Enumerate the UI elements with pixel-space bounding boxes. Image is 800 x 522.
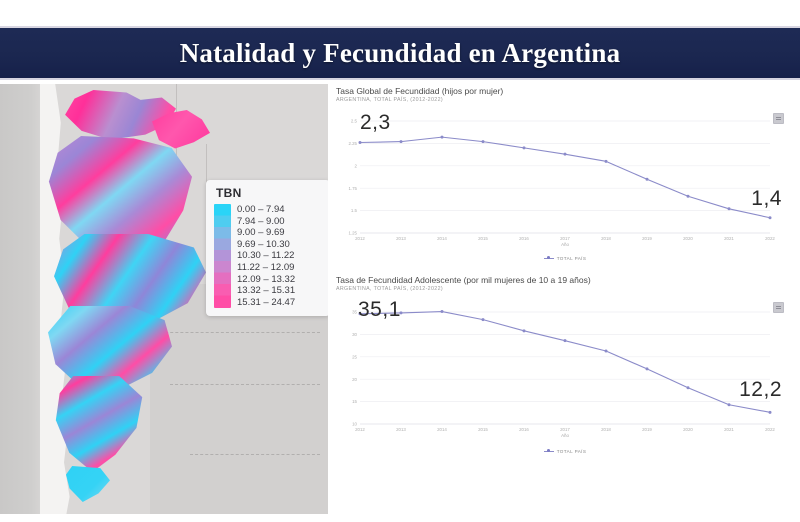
svg-text:1.75: 1.75	[348, 186, 357, 191]
legend-body: 0.00 – 7.94 7.94 – 9.00 9.00 – 9.69 9.69…	[214, 204, 322, 308]
chart-1-plot[interactable]: 1.251.51.7522.252.5201220132014201520162…	[330, 107, 800, 255]
svg-text:Año: Año	[561, 242, 569, 247]
svg-text:2014: 2014	[437, 236, 447, 241]
legend-color-ramp	[214, 204, 231, 308]
menu-icon[interactable]	[773, 302, 784, 313]
legend-class-1: 0.00 – 7.94	[237, 204, 295, 216]
legend-class-7: 12.09 – 13.32	[237, 274, 295, 286]
svg-text:2013: 2013	[396, 236, 406, 241]
map-dashed-boundary-2	[170, 384, 320, 385]
svg-text:2.5: 2.5	[351, 119, 358, 124]
chart-1-subtitle: ARGENTINA, TOTAL PAÍS, (2012-2022)	[330, 97, 800, 103]
chart-2-plot[interactable]: 1015202530352012201320142015201620172018…	[330, 296, 800, 448]
svg-text:2019: 2019	[642, 427, 652, 432]
chart-2-legend[interactable]: TOTAL PAÍS	[330, 449, 800, 454]
svg-text:30: 30	[352, 332, 357, 337]
svg-text:2016: 2016	[519, 236, 529, 241]
map-atlantic-ocean	[150, 284, 328, 514]
svg-text:25: 25	[352, 354, 357, 359]
map-dashed-boundary-3	[190, 454, 320, 455]
svg-text:2017: 2017	[560, 236, 570, 241]
chart-1-end-value: 1,4	[751, 187, 782, 211]
chart-block-fecundidad-global: Tasa Global de Fecundidad (hijos por muj…	[330, 80, 800, 261]
svg-text:2022: 2022	[765, 236, 775, 241]
chart-2-subtitle: ARGENTINA, TOTAL PAÍS, (2012-2022)	[330, 286, 800, 292]
svg-text:2015: 2015	[478, 236, 488, 241]
map-dashed-boundary-1	[150, 332, 320, 333]
legend-class-6: 11.22 – 12.09	[237, 262, 295, 274]
chart-block-fecundidad-adolescente: Tasa de Fecundidad Adolescente (por mil …	[330, 261, 800, 454]
svg-text:2021: 2021	[724, 427, 734, 432]
svg-text:20: 20	[352, 377, 357, 382]
page-title: Natalidad y Fecundidad en Argentina	[180, 38, 621, 69]
chart-1-title: Tasa Global de Fecundidad (hijos por muj…	[330, 86, 800, 97]
svg-text:2: 2	[355, 163, 358, 168]
legend-class-3: 9.00 – 9.69	[237, 227, 295, 239]
svg-text:2019: 2019	[642, 236, 652, 241]
svg-text:1.5: 1.5	[351, 208, 358, 213]
svg-text:2021: 2021	[724, 236, 734, 241]
legend-labels: 0.00 – 7.94 7.94 – 9.00 9.00 – 9.69 9.69…	[237, 204, 295, 308]
svg-text:2018: 2018	[601, 427, 611, 432]
chart-2-start-value: 35,1	[358, 298, 401, 322]
chart-2-end-value: 12,2	[739, 378, 782, 402]
legend-class-4: 9.69 – 10.30	[237, 239, 295, 251]
svg-text:2012: 2012	[355, 236, 365, 241]
svg-text:2020: 2020	[683, 427, 693, 432]
svg-text:2016: 2016	[519, 427, 529, 432]
svg-text:2013: 2013	[396, 427, 406, 432]
svg-text:2015: 2015	[478, 427, 488, 432]
svg-text:2012: 2012	[355, 427, 365, 432]
map-legend: TBN 0.00 – 7.94 7.94 – 9.00 9.00 – 9.69 …	[206, 180, 328, 316]
svg-text:Año: Año	[561, 433, 569, 438]
slide-content: TBN 0.00 – 7.94 7.94 – 9.00 9.00 – 9.69 …	[0, 80, 800, 522]
charts-column: Tasa Global de Fecundidad (hijos por muj…	[330, 80, 800, 522]
svg-text:2022: 2022	[765, 427, 775, 432]
chart-1-legend-swatch	[544, 258, 554, 260]
chart-1-start-value: 2,3	[360, 111, 391, 135]
legend-class-9: 15.31 – 24.47	[237, 297, 295, 309]
header-band: Natalidad y Fecundidad en Argentina	[0, 28, 800, 78]
slide: Natalidad y Fecundidad en Argentina	[0, 0, 800, 522]
legend-class-8: 13.32 – 15.31	[237, 285, 295, 297]
legend-class-5: 10.30 – 11.22	[237, 250, 295, 262]
svg-text:10: 10	[352, 422, 357, 427]
svg-text:15: 15	[352, 399, 357, 404]
svg-text:2014: 2014	[437, 427, 447, 432]
legend-class-2: 7.94 – 9.00	[237, 216, 295, 228]
map-panel[interactable]: TBN 0.00 – 7.94 7.94 – 9.00 9.00 – 9.69 …	[0, 84, 328, 514]
chart-2-title: Tasa de Fecundidad Adolescente (por mil …	[330, 275, 800, 286]
svg-text:2018: 2018	[601, 236, 611, 241]
svg-text:35: 35	[352, 310, 357, 315]
menu-icon[interactable]	[773, 113, 784, 124]
legend-title: TBN	[216, 186, 322, 200]
svg-text:2017: 2017	[560, 427, 570, 432]
chart-1-svg: 1.251.51.7522.252.5201220132014201520162…	[330, 107, 800, 255]
svg-text:2.25: 2.25	[348, 141, 357, 146]
svg-text:2020: 2020	[683, 236, 693, 241]
chart-2-legend-label: TOTAL PAÍS	[557, 449, 587, 454]
svg-text:1.25: 1.25	[348, 231, 357, 236]
chart-2-legend-swatch	[544, 451, 554, 453]
